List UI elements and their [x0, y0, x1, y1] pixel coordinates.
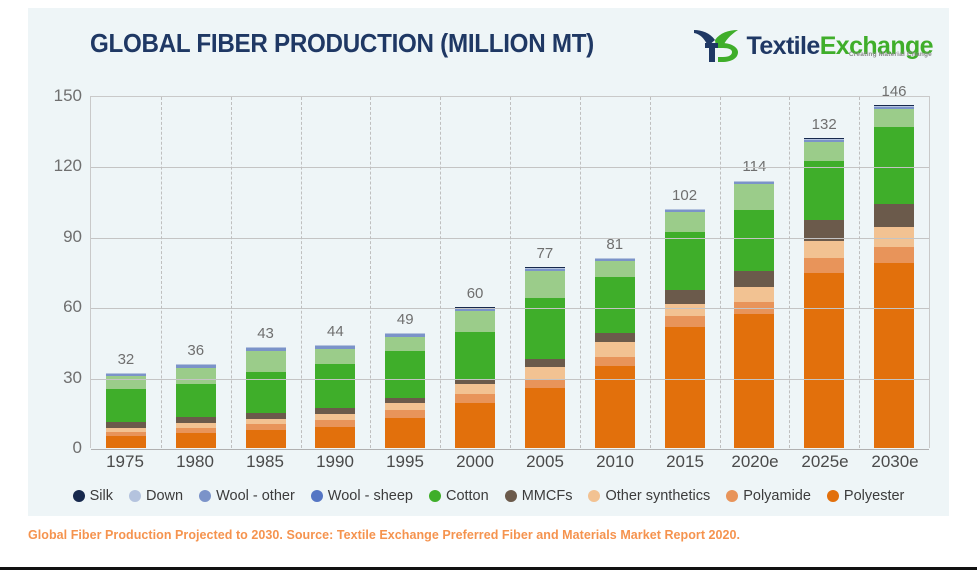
stacked-bar[interactable]: 49 — [385, 333, 425, 448]
bar-segment[interactable] — [874, 127, 914, 204]
chart-header: GLOBAL FIBER PRODUCTION (MILLION MT) Tex… — [28, 8, 949, 76]
source-caption: Global Fiber Production Projected to 203… — [28, 528, 949, 542]
bar-segment[interactable] — [525, 271, 565, 298]
legend-item[interactable]: Cotton — [429, 488, 489, 504]
bar-segment[interactable] — [595, 261, 635, 277]
legend-label: Down — [146, 488, 183, 504]
vertical-gridline — [650, 97, 651, 448]
legend-swatch-icon — [311, 490, 323, 502]
bar-column[interactable]: 44 — [300, 97, 370, 448]
plot-area: 0306090120150 32364344496077811021141321… — [28, 76, 949, 516]
stacked-bar[interactable]: 77 — [525, 267, 565, 448]
vertical-gridline — [370, 97, 371, 448]
bar-segment[interactable] — [385, 418, 425, 448]
x-axis-tick: 1980 — [160, 452, 230, 482]
vertical-gridline — [859, 97, 860, 448]
legend-swatch-icon — [588, 490, 600, 502]
x-axis-tick: 2030e — [860, 452, 930, 482]
bar-segment[interactable] — [595, 333, 635, 342]
vertical-gridline — [231, 97, 232, 448]
stacked-bar[interactable]: 44 — [315, 345, 355, 448]
chart-card: GLOBAL FIBER PRODUCTION (MILLION MT) Tex… — [28, 8, 949, 516]
legend-label: Polyamide — [743, 488, 811, 504]
vertical-gridline — [161, 97, 162, 448]
bar-segment[interactable] — [874, 109, 914, 127]
bar-segment[interactable] — [665, 327, 705, 448]
bar-total-label: 36 — [187, 342, 204, 359]
legend-swatch-icon — [827, 490, 839, 502]
x-axis-tick: 2025e — [790, 452, 860, 482]
bar-segment[interactable] — [315, 349, 355, 364]
x-axis-tick: 1990 — [300, 452, 370, 482]
bar-segment[interactable] — [734, 210, 774, 271]
bar-segment[interactable] — [106, 436, 146, 448]
y-axis-tick: 150 — [54, 86, 82, 106]
chart-page: GLOBAL FIBER PRODUCTION (MILLION MT) Tex… — [0, 0, 977, 570]
x-axis-tick: 2005 — [510, 452, 580, 482]
legend-item[interactable]: Silk — [73, 488, 113, 504]
x-axis-tick: 2015 — [650, 452, 720, 482]
bar-segment[interactable] — [804, 241, 844, 258]
y-axis-tick: 30 — [63, 368, 82, 388]
bar-column[interactable]: 114 — [719, 97, 789, 448]
chart-legend: SilkDownWool - otherWool - sheepCottonMM… — [28, 488, 949, 504]
bar-segment[interactable] — [385, 403, 425, 410]
y-axis-tick: 90 — [63, 227, 82, 247]
legend-label: Cotton — [446, 488, 489, 504]
bar-column[interactable]: 32 — [91, 97, 161, 448]
bar-segment[interactable] — [525, 379, 565, 388]
legend-item[interactable]: Wool - other — [199, 488, 295, 504]
bar-total-label: 44 — [327, 323, 344, 340]
bar-column[interactable]: 43 — [231, 97, 301, 448]
stacked-bar[interactable]: 81 — [595, 258, 635, 448]
bar-segment[interactable] — [874, 263, 914, 448]
bar-total-label: 60 — [467, 285, 484, 302]
bar-column[interactable]: 102 — [650, 97, 720, 448]
bar-column[interactable]: 132 — [789, 97, 859, 448]
legend-label: Other synthetics — [605, 488, 710, 504]
x-axis-tick: 2000 — [440, 452, 510, 482]
bar-segment[interactable] — [385, 337, 425, 352]
bar-segment[interactable] — [176, 368, 216, 384]
bar-total-label: 146 — [882, 83, 907, 100]
bar-total-label: 32 — [118, 351, 135, 368]
bar-total-label: 43 — [257, 325, 274, 342]
logo-wordmark: TextileExchange Creating Material Change — [747, 33, 933, 59]
bar-column[interactable]: 146 — [859, 97, 929, 448]
bar-segment[interactable] — [734, 314, 774, 448]
stacked-bar[interactable]: 102 — [665, 209, 705, 448]
logo-text-textile: Textile — [747, 32, 820, 60]
legend-item[interactable]: Wool - sheep — [311, 488, 413, 504]
x-axis-tick: 1995 — [370, 452, 440, 482]
stacked-bar[interactable]: 43 — [246, 347, 286, 448]
bar-segment[interactable] — [525, 367, 565, 380]
bar-column[interactable]: 36 — [161, 97, 231, 448]
bar-segment[interactable] — [246, 430, 286, 448]
vertical-gridline — [720, 97, 721, 448]
textile-exchange-logo: TextileExchange Creating Material Change — [692, 26, 933, 66]
legend-swatch-icon — [129, 490, 141, 502]
y-axis: 0306090120150 — [28, 96, 90, 448]
bar-segment[interactable] — [665, 316, 705, 327]
vertical-gridline — [510, 97, 511, 448]
bar-segment[interactable] — [455, 394, 495, 403]
bar-segment[interactable] — [455, 311, 495, 332]
bar-column[interactable]: 77 — [510, 97, 580, 448]
bar-column[interactable]: 49 — [370, 97, 440, 448]
x-axis-tick: 2020e — [720, 452, 790, 482]
gridline — [91, 449, 929, 450]
bar-segment[interactable] — [455, 403, 495, 448]
bar-segment[interactable] — [874, 247, 914, 263]
legend-swatch-icon — [505, 490, 517, 502]
stacked-bar[interactable]: 146 — [874, 105, 914, 448]
logo-mark-icon — [692, 27, 744, 65]
bar-total-label: 77 — [537, 245, 554, 262]
bar-segment[interactable] — [804, 142, 844, 161]
bar-segment[interactable] — [734, 184, 774, 210]
legend-item[interactable]: Polyester — [827, 488, 904, 504]
bar-segment[interactable] — [595, 342, 635, 357]
bar-segment[interactable] — [385, 351, 425, 397]
bar-segment[interactable] — [246, 351, 286, 372]
bar-segment[interactable] — [665, 212, 705, 232]
logo-tagline: Creating Material Change — [849, 42, 932, 68]
y-axis-tick: 60 — [63, 297, 82, 317]
plot-frame: 3236434449607781102114132146 — [90, 96, 930, 448]
legend-label: Wool - sheep — [328, 488, 413, 504]
bar-segment[interactable] — [315, 420, 355, 427]
legend-label: MMCFs — [522, 488, 573, 504]
bar-segment[interactable] — [665, 290, 705, 305]
legend-swatch-icon — [726, 490, 738, 502]
bar-segment[interactable] — [665, 304, 705, 316]
page-title: GLOBAL FIBER PRODUCTION (MILLION MT) — [90, 28, 594, 59]
bar-segment[interactable] — [176, 433, 216, 448]
legend-item[interactable]: Down — [129, 488, 183, 504]
stacked-bar[interactable]: 36 — [176, 364, 216, 448]
bar-column[interactable]: 60 — [440, 97, 510, 448]
bar-segment[interactable] — [525, 388, 565, 448]
bar-segment[interactable] — [525, 359, 565, 366]
bar-segment[interactable] — [315, 427, 355, 448]
legend-swatch-icon — [73, 490, 85, 502]
bar-segment[interactable] — [455, 332, 495, 379]
bar-segment[interactable] — [874, 204, 914, 227]
bar-segment[interactable] — [804, 161, 844, 220]
x-axis-tick: 1975 — [90, 452, 160, 482]
legend-label: Silk — [90, 488, 113, 504]
bar-segment[interactable] — [734, 287, 774, 302]
stacked-bar[interactable]: 32 — [106, 373, 146, 448]
bar-segment[interactable] — [804, 273, 844, 448]
bar-segment[interactable] — [595, 357, 635, 366]
bar-column[interactable]: 81 — [580, 97, 650, 448]
bar-segment[interactable] — [804, 258, 844, 273]
x-axis-tick: 2010 — [580, 452, 650, 482]
bar-segment[interactable] — [734, 271, 774, 286]
vertical-gridline — [580, 97, 581, 448]
bar-segment[interactable] — [315, 364, 355, 408]
bar-total-label: 132 — [812, 116, 837, 133]
legend-label: Polyester — [844, 488, 904, 504]
legend-item[interactable]: Other synthetics — [588, 488, 710, 504]
vertical-gridline — [440, 97, 441, 448]
x-axis: 1975198019851990199520002005201020152020… — [90, 452, 930, 482]
bar-segment[interactable] — [665, 232, 705, 289]
stacked-bar[interactable]: 114 — [734, 181, 774, 448]
bar-segment[interactable] — [176, 384, 216, 418]
bar-total-label: 102 — [672, 187, 697, 204]
vertical-gridline — [301, 97, 302, 448]
bar-segment[interactable] — [106, 389, 146, 422]
vertical-gridline — [789, 97, 790, 448]
legend-swatch-icon — [199, 490, 211, 502]
bar-segment[interactable] — [595, 277, 635, 332]
y-axis-tick: 0 — [73, 438, 82, 458]
legend-item[interactable]: Polyamide — [726, 488, 811, 504]
legend-item[interactable]: MMCFs — [505, 488, 573, 504]
legend-label: Wool - other — [216, 488, 295, 504]
stacked-bar[interactable]: 132 — [804, 138, 844, 448]
y-axis-tick: 120 — [54, 156, 82, 176]
bar-segment[interactable] — [385, 410, 425, 418]
bar-total-label: 49 — [397, 311, 414, 328]
legend-swatch-icon — [429, 490, 441, 502]
x-axis-tick: 1985 — [230, 452, 300, 482]
bar-segment[interactable] — [455, 384, 495, 394]
